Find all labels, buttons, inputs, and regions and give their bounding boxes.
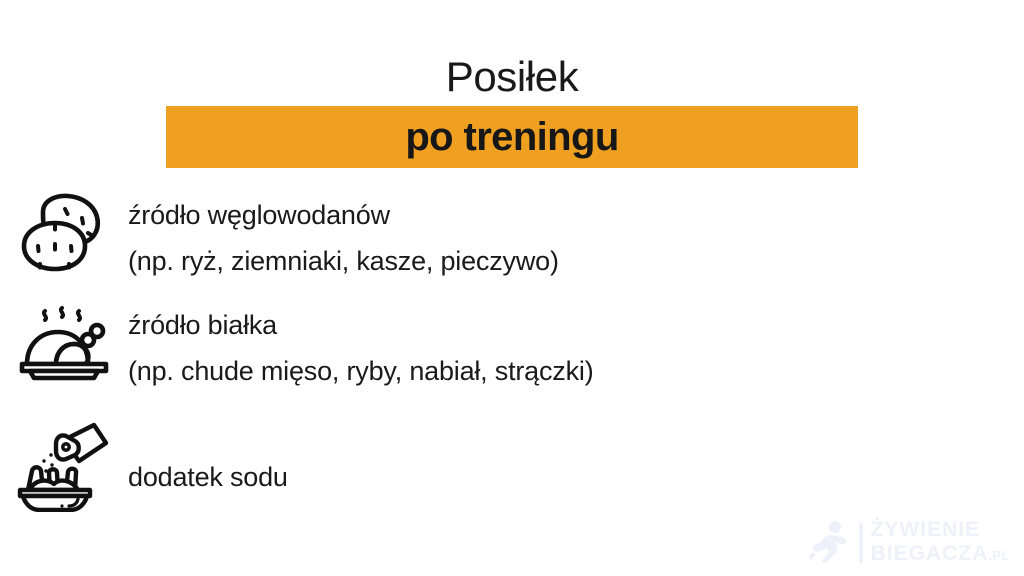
watermark-text: ŻYWIENIE BIEGACZA.PL: [871, 518, 1010, 568]
title-line-secondary: po treningu: [405, 115, 618, 159]
list-item-line-1: źródło węglowodanów: [128, 192, 559, 238]
list-item: źródło białka (np. chude mięso, ryby, na…: [0, 296, 1024, 394]
watermark-divider: [859, 523, 863, 563]
roast-turkey-icon: [0, 296, 128, 390]
potatoes-icon: [0, 186, 128, 280]
slide-root: Posiłek po treningu: [0, 0, 1024, 576]
watermark-line-2: BIEGACZA: [871, 542, 989, 565]
runner-icon: [807, 519, 851, 568]
title-line-primary: Posiłek: [0, 52, 1024, 102]
list-item: źródło węglowodanów (np. ryż, ziemniaki,…: [0, 186, 1024, 284]
list-item-text: źródło białka (np. chude mięso, ryby, na…: [128, 296, 594, 394]
watermark-suffix: .PL: [988, 548, 1010, 563]
watermark-line-1: ŻYWIENIE: [871, 518, 1010, 542]
watermark-logo: ŻYWIENIE BIEGACZA.PL: [807, 518, 1010, 568]
salt-shaker-bowl-icon: [0, 414, 128, 512]
list-item-line-2: (np. chude mięso, ryby, nabiał, strączki…: [128, 348, 594, 394]
list-item-line-1: źródło białka: [128, 302, 594, 348]
list-item-text: dodatek sodu: [128, 414, 288, 500]
list-item-text: źródło węglowodanów (np. ryż, ziemniaki,…: [128, 186, 559, 284]
watermark-line-2-wrap: BIEGACZA.PL: [871, 542, 1010, 568]
title-banner: po treningu: [166, 106, 858, 168]
list-item-line-1: dodatek sodu: [128, 454, 288, 500]
list-item-line-2: (np. ryż, ziemniaki, kasze, pieczywo): [128, 238, 559, 284]
list-item: dodatek sodu: [0, 414, 1024, 512]
page-title: Posiłek: [0, 52, 1024, 102]
